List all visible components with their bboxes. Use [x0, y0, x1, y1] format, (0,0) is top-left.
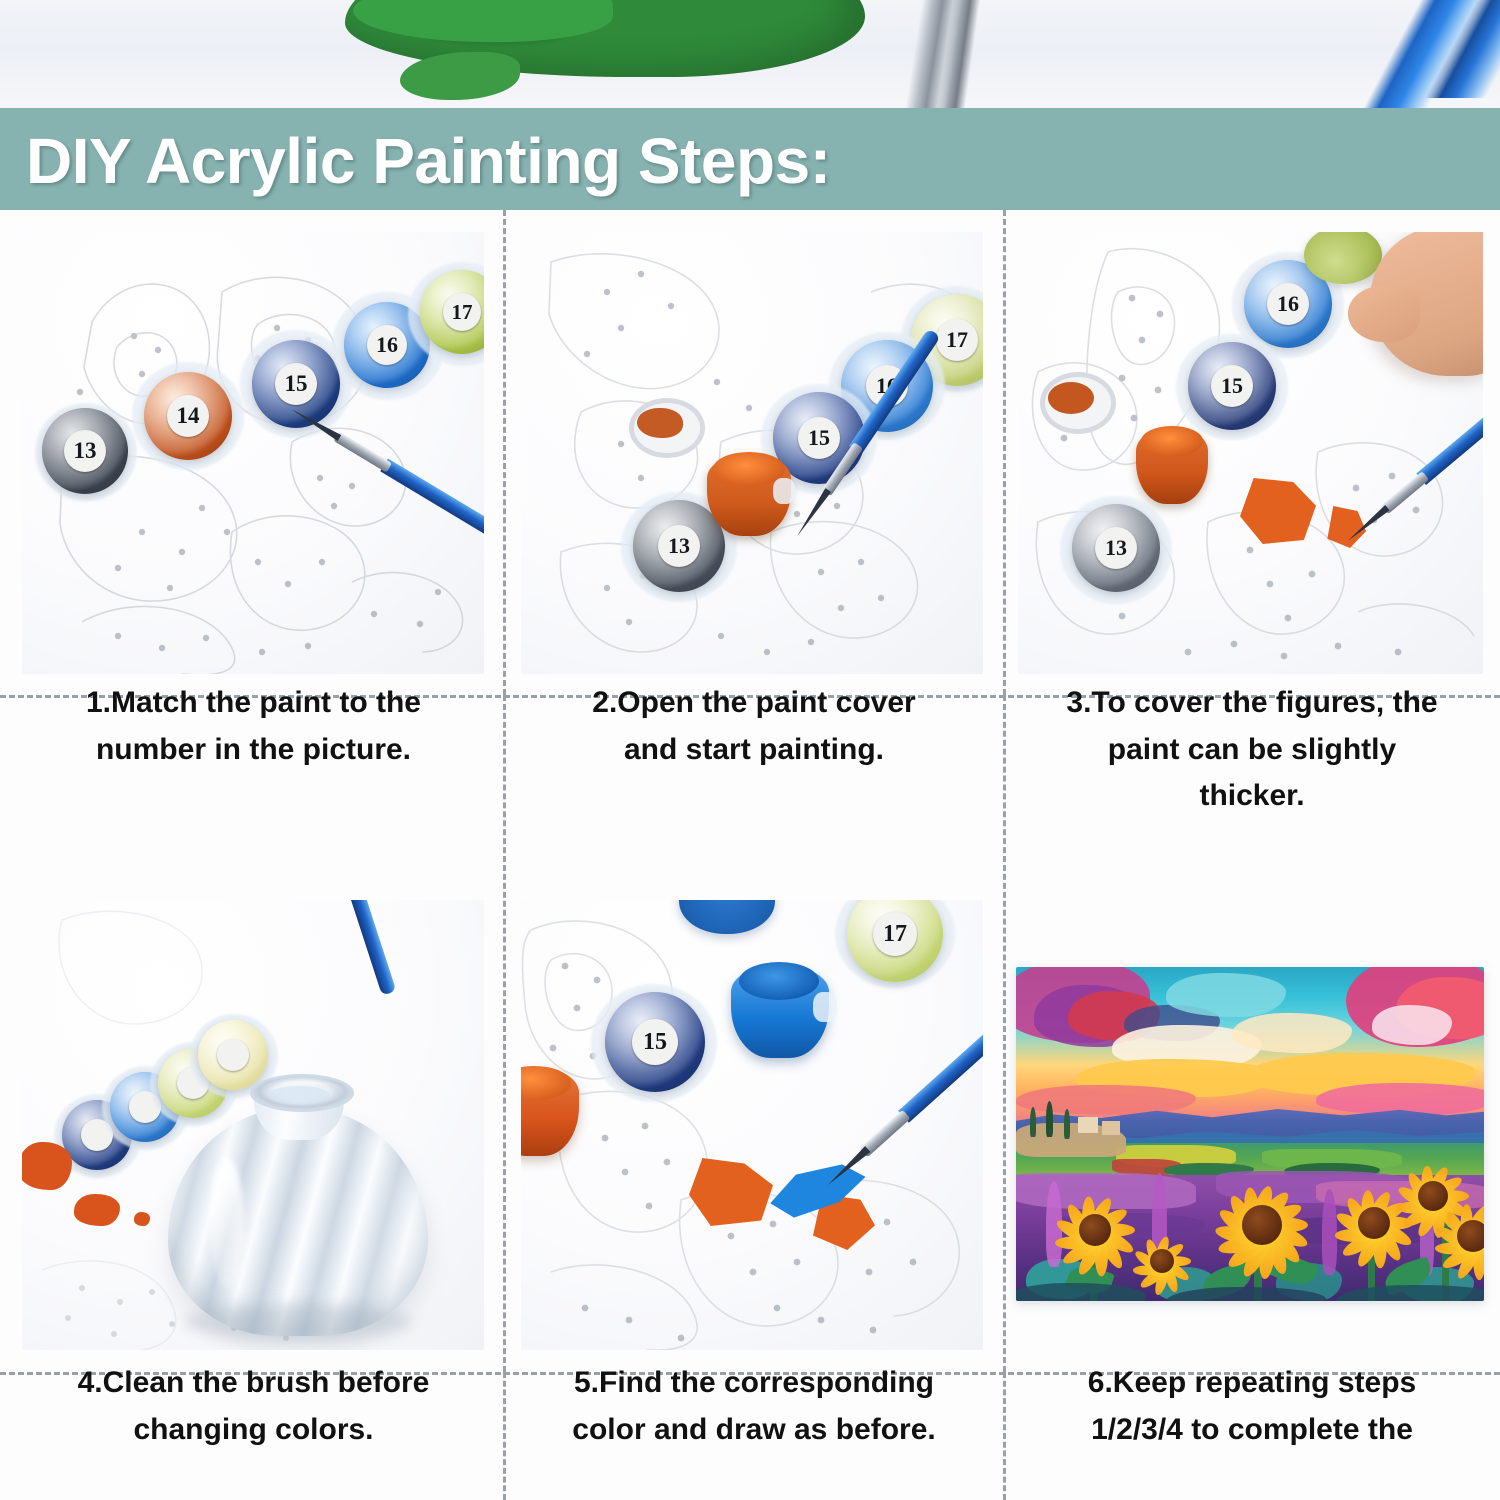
- title-band: DIY Acrylic Painting Steps:: [0, 108, 1500, 210]
- step-5-photo: 17 15: [521, 900, 983, 1350]
- step-4-cell: 4.Clean the brush before changing colors…: [0, 695, 503, 1372]
- step-6-caption: 6.Keep repeating steps 1/2/3/4 to comple…: [1023, 1360, 1481, 1453]
- orange-paint-residue: [637, 408, 683, 438]
- step-2-cell: 17 16 15: [503, 210, 1003, 695]
- cloud-warm-center: [1232, 1013, 1352, 1053]
- opened-orange-paint-pot: [707, 446, 799, 544]
- thumb: [1348, 286, 1420, 342]
- sunflower-2: [1130, 1229, 1194, 1293]
- palette-knife-blade-secondary: [838, 0, 1072, 110]
- sunflower-1: [1052, 1187, 1138, 1273]
- paint-pot-17: 17: [847, 900, 947, 986]
- opened-orange-paint-pot: [521, 1060, 583, 1160]
- cypress-tree-1: [1030, 1107, 1036, 1137]
- diy-acrylic-painting-steps-infographic: DIY Acrylic Painting Steps:: [0, 0, 1500, 1500]
- blue-brush-handle-two: [1345, 0, 1500, 98]
- cypress-tree-3: [1064, 1109, 1070, 1139]
- step-6-cell: 6.Keep repeating steps 1/2/3/4 to comple…: [1003, 695, 1500, 1372]
- sunflower-3: [1212, 1175, 1312, 1275]
- step-2-photo: 17 16 15: [521, 232, 983, 674]
- top-photo-strip: [0, 0, 1500, 110]
- glass-water-jar: [158, 1048, 438, 1338]
- step-5-caption-line-1: 5.Find the corresponding: [525, 1360, 983, 1407]
- opened-orange-paint-pot: [1136, 420, 1212, 510]
- cloud-cyan: [1166, 973, 1286, 1017]
- page-title: DIY Acrylic Painting Steps:: [26, 124, 831, 198]
- step-4-photo: [22, 900, 484, 1350]
- column-separator-2-caption: [1003, 1372, 1006, 1500]
- sunset-band-left: [1016, 1085, 1196, 1115]
- village-building: [1078, 1117, 1098, 1133]
- step-5-caption-line-2: color and draw as before.: [525, 1407, 983, 1454]
- paint-pot-13: 13: [42, 408, 132, 498]
- step-5-cell: 17 15: [503, 695, 1003, 1372]
- paint-pot-13: 13: [1072, 504, 1164, 596]
- cloud-highlight-right: [1372, 1005, 1452, 1045]
- steps-grid: 13 14 15: [0, 210, 1500, 1500]
- step-4-caption-line-2: changing colors.: [26, 1407, 481, 1454]
- orange-paint-residue: [1048, 382, 1094, 414]
- sunflower-6: [1432, 1195, 1484, 1277]
- column-separator-1-caption: [503, 1372, 506, 1500]
- spilled-orange-paint-small: [74, 1194, 120, 1226]
- village-building-2: [1102, 1121, 1120, 1135]
- opened-blue-paint-pot: [731, 956, 835, 1060]
- step-3-photo: 16 15 13: [1018, 232, 1483, 674]
- spilled-orange-paint: [22, 1142, 72, 1190]
- paint-pot-14: 14: [144, 372, 236, 464]
- paint-pot-15: 15: [605, 992, 709, 1096]
- step-4-caption: 4.Clean the brush before changing colors…: [26, 1360, 481, 1453]
- step-3-cell: 16 15 13: [1003, 210, 1500, 695]
- step-1-cell: 13 14 15: [0, 210, 503, 695]
- finished-sunflower-painting: [1016, 967, 1484, 1301]
- step-1-photo: 13 14 15: [22, 232, 484, 674]
- step-6-caption-line-1: 6.Keep repeating steps: [1023, 1360, 1481, 1407]
- cypress-tree-2: [1046, 1101, 1053, 1137]
- spilled-orange-paint-dot: [134, 1212, 150, 1226]
- step-4-caption-line-1: 4.Clean the brush before: [26, 1360, 481, 1407]
- paint-pot-17: 17: [420, 270, 484, 362]
- step-5-caption: 5.Find the corresponding color and draw …: [525, 1360, 983, 1453]
- step-6-caption-line-2: 1/2/3/4 to complete the: [1023, 1407, 1481, 1454]
